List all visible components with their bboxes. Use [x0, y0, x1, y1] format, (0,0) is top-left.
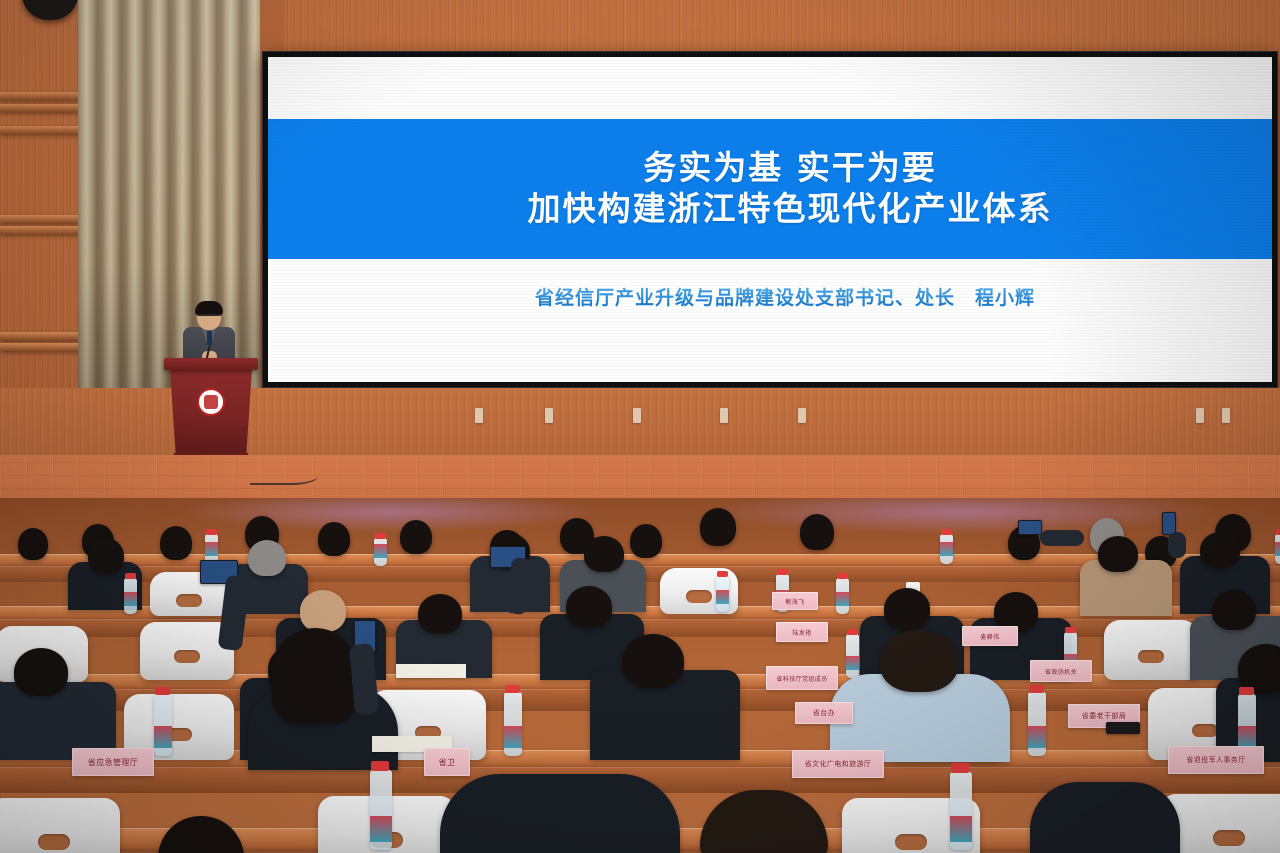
chair — [1104, 620, 1198, 680]
name-card-text: 省文化广电和旅游厅 — [805, 759, 872, 769]
attendee-head-long-hair — [700, 790, 828, 853]
name-card-text: 省应急管理厅 — [88, 757, 138, 768]
slide-subtitle: 省经信厅产业升级与品牌建设处支部书记、处长 程小辉 — [268, 283, 1272, 310]
attendee-head — [800, 514, 834, 550]
slide-title-line-1: 务实为基 实干为要 — [528, 148, 1053, 189]
attendee-head — [1200, 532, 1240, 568]
presenter-tie — [207, 331, 212, 345]
attendee-head — [248, 540, 286, 576]
wall-outlet-icon — [720, 408, 728, 423]
slide-title-banner: 务实为基 实干为要 加快构建浙江特色现代化产业体系 — [268, 119, 1272, 259]
attendee-arm — [1040, 530, 1084, 546]
table-name-card: 麦峰伟 — [962, 626, 1018, 646]
table-name-card: 省文化广电和旅游厅 — [792, 750, 884, 778]
table-name-card: 省台办 — [795, 702, 853, 724]
attendee-head-long-hair — [272, 628, 358, 724]
table-name-card: 陆发艳 — [776, 622, 828, 642]
podium-emblem-icon — [197, 388, 225, 416]
table-name-card: 省应急管理厅 — [72, 748, 154, 776]
smartphone-on-desk — [1106, 722, 1140, 734]
attendee-head — [584, 536, 624, 572]
attendee-head — [880, 630, 958, 692]
attendee-head — [14, 648, 68, 696]
slide-canvas: 务实为基 实干为要 加快构建浙江特色现代化产业体系 省经信厅产业升级与品牌建设处… — [268, 57, 1272, 382]
name-card-text: 省卫 — [439, 757, 456, 768]
attendee-torso — [1030, 782, 1180, 853]
attendee-head — [88, 538, 124, 574]
water-bottle — [940, 534, 953, 564]
attendee-head — [566, 586, 612, 628]
attendee-head — [700, 508, 736, 546]
attendee-head — [1098, 536, 1138, 572]
attendee-head — [400, 520, 432, 554]
wall-outlet-icon — [633, 408, 641, 423]
wall-outlet-icon — [545, 408, 553, 423]
name-card-text: 陆发艳 — [792, 628, 811, 637]
water-bottle — [154, 694, 172, 756]
table-name-card: 省科技厅党组成员 — [766, 666, 838, 690]
slide-title-line-2: 加快构建浙江特色现代化产业体系 — [528, 189, 1053, 230]
wall-outlet-icon — [1222, 408, 1230, 423]
attendee-arm — [1168, 532, 1186, 558]
attendee-head — [1212, 590, 1256, 630]
wall-outlet-icon — [798, 408, 806, 423]
name-card-text: 鲍海飞 — [785, 597, 804, 606]
water-bottle — [846, 634, 859, 678]
water-bottle — [124, 578, 137, 614]
attendee-torso — [440, 774, 680, 853]
attendee-head — [158, 816, 244, 853]
emblem-center — [204, 395, 218, 409]
attendee-head — [18, 528, 48, 560]
audience-seating-area: 鲍海飞 陆发艳 麦峰伟 — [0, 498, 1280, 853]
water-bottle — [836, 578, 849, 614]
wall-outlet-icon — [475, 408, 483, 423]
water-bottle — [950, 772, 972, 850]
glasses-icon — [198, 314, 220, 321]
attendee-head — [622, 634, 684, 688]
attendee-head — [300, 590, 346, 632]
table-name-card: 省退役军人事务厅 — [1168, 746, 1264, 774]
water-bottle — [374, 538, 387, 566]
name-card-text: 省退役军人事务厅 — [1186, 755, 1245, 765]
chair — [0, 798, 120, 853]
led-display-screen: 务实为基 实干为要 加快构建浙江特色现代化产业体系 省经信厅产业升级与品牌建设处… — [262, 51, 1278, 388]
attendee-head — [418, 594, 462, 634]
table-name-card: 省政协机关 — [1030, 660, 1092, 682]
podium — [168, 358, 254, 466]
wall-outlet-icon — [1196, 408, 1204, 423]
water-bottle — [1275, 534, 1280, 564]
name-card-text: 省委老干部局 — [1082, 711, 1126, 721]
water-bottle — [504, 692, 522, 756]
podium-top — [164, 358, 258, 370]
attendee-head — [630, 524, 662, 558]
water-bottle — [370, 770, 392, 850]
presenter — [183, 303, 235, 365]
attendee-head — [318, 522, 350, 556]
table-name-card: 鲍海飞 — [772, 592, 818, 610]
water-bottle — [716, 576, 729, 612]
conference-hall-photo: 务实为基 实干为要 加快构建浙江特色现代化产业体系 省经信厅产业升级与品牌建设处… — [0, 0, 1280, 853]
smartphone-recording — [1018, 520, 1042, 535]
attendee-head — [160, 526, 192, 560]
water-bottle — [1028, 692, 1046, 756]
slide-title: 务实为基 实干为要 加快构建浙江特色现代化产业体系 — [488, 148, 1053, 230]
name-card-text: 麦峰伟 — [980, 632, 999, 641]
name-card-text: 省台办 — [813, 708, 835, 718]
notebook-on-desk — [396, 664, 466, 678]
name-card-text: 省科技厅党组成员 — [776, 674, 827, 683]
name-card-text: 省政协机关 — [1045, 667, 1077, 676]
attendee-head — [884, 588, 930, 630]
stage-cable — [250, 463, 318, 485]
table-name-card: 省卫 — [424, 748, 470, 776]
